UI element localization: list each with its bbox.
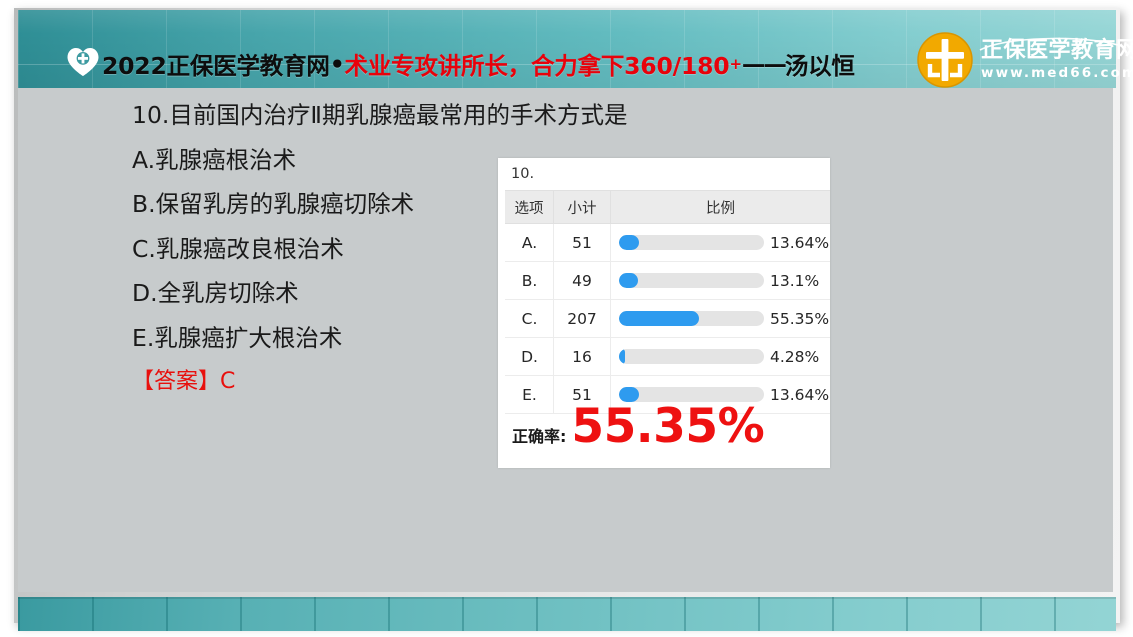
bar-track: [619, 311, 764, 326]
table-row: A.5113.64%: [505, 224, 830, 262]
cell-count: 207: [554, 300, 611, 338]
slide-canvas: 2022正保医学教育网•术业专攻讲所长，合力拿下360/180+——汤以恒 正保…: [0, 0, 1133, 637]
footer-strip: [18, 597, 1116, 631]
cell-proportion: 55.35%: [611, 300, 831, 338]
question-block: 10.目前国内治疗Ⅱ期乳腺癌最常用的手术方式是 A.乳腺癌根治术 B.保留乳房的…: [132, 104, 552, 393]
table-head: 选项 小计 比例: [505, 191, 830, 224]
question-option-a: A.乳腺癌根治术: [132, 149, 552, 173]
header-title-dash: ——: [742, 50, 785, 78]
table-row: D.164.28%: [505, 338, 830, 376]
question-option-e: E.乳腺癌扩大根治术: [132, 327, 552, 351]
bar-track: [619, 273, 764, 288]
proportion-bar: 4.28%: [619, 348, 822, 366]
header-title-site: 2022正保医学教育网: [102, 47, 330, 81]
cell-option: A.: [505, 224, 554, 262]
bar-fill: [619, 349, 625, 364]
table-row: B.4913.1%: [505, 262, 830, 300]
header-title-separator: •: [330, 50, 345, 78]
brand-logo: 正保医学教育网 www.med66.com: [916, 29, 1132, 91]
header-banner: 2022正保医学教育网•术业专攻讲所长，合力拿下360/180+——汤以恒 正保…: [18, 10, 1116, 88]
accuracy-row: 正确率: 55.35%: [512, 403, 764, 450]
bar-percent-label: 13.1%: [770, 272, 819, 290]
question-option-b: B.保留乳房的乳腺癌切除术: [132, 193, 552, 217]
header-title-slogan: 术业专攻讲所长，合力拿下360/180: [345, 47, 730, 81]
cell-proportion: 13.64%: [611, 224, 831, 262]
cell-count: 16: [554, 338, 611, 376]
cell-proportion: 4.28%: [611, 338, 831, 376]
column-header-option: 选项: [505, 191, 554, 224]
bar-track: [619, 349, 764, 364]
table-row: C.20755.35%: [505, 300, 830, 338]
bar-percent-label: 4.28%: [770, 348, 819, 366]
column-header-proportion: 比例: [611, 191, 831, 224]
table-header-row: 选项 小计 比例: [505, 191, 830, 224]
accuracy-value: 55.35%: [571, 403, 764, 450]
logo-swoosh-icon: [978, 34, 1128, 52]
bar-fill: [619, 311, 699, 326]
answer-line: 【答案】C: [132, 371, 552, 393]
header-title-superscript: +: [729, 55, 741, 73]
header-title: 2022正保医学教育网•术业专攻讲所长，合力拿下360/180+——汤以恒: [102, 46, 855, 82]
question-option-c: C.乳腺癌改良根治术: [132, 238, 552, 262]
cell-count: 49: [554, 262, 611, 300]
bar-fill: [619, 235, 639, 250]
bar-percent-label: 13.64%: [770, 234, 829, 252]
cell-count: 51: [554, 224, 611, 262]
cell-option: D.: [505, 338, 554, 376]
statistics-title: 10.: [511, 166, 534, 182]
cell-proportion: 13.1%: [611, 262, 831, 300]
statistics-card: 10. 选项 小计 比例 A.5113.64%B.4913.1%C.20755.…: [498, 158, 830, 468]
bar-percent-label: 13.64%: [770, 386, 829, 404]
bar-percent-label: 55.35%: [770, 310, 829, 328]
bar-fill: [619, 273, 638, 288]
cell-option: B.: [505, 262, 554, 300]
heart-medical-icon: [66, 46, 100, 78]
bar-track: [619, 235, 764, 250]
cell-option: C.: [505, 300, 554, 338]
footer-grid-overlay: [18, 597, 1116, 631]
column-header-count: 小计: [554, 191, 611, 224]
question-stem: 10.目前国内治疗Ⅱ期乳腺癌最常用的手术方式是: [132, 104, 552, 128]
accuracy-label: 正确率:: [512, 423, 566, 447]
table-body: A.5113.64%B.4913.1%C.20755.35%D.164.28%E…: [505, 224, 830, 414]
cross-in-circle-icon: [916, 31, 974, 89]
proportion-bar: 55.35%: [619, 310, 822, 328]
statistics-table: 选项 小计 比例 A.5113.64%B.4913.1%C.20755.35%D…: [505, 190, 830, 414]
question-option-d: D.全乳房切除术: [132, 282, 552, 306]
header-title-lecturer: 汤以恒: [785, 47, 855, 81]
proportion-bar: 13.64%: [619, 234, 822, 252]
logo-site-url: www.med66.com: [981, 65, 1133, 81]
proportion-bar: 13.1%: [619, 272, 822, 290]
